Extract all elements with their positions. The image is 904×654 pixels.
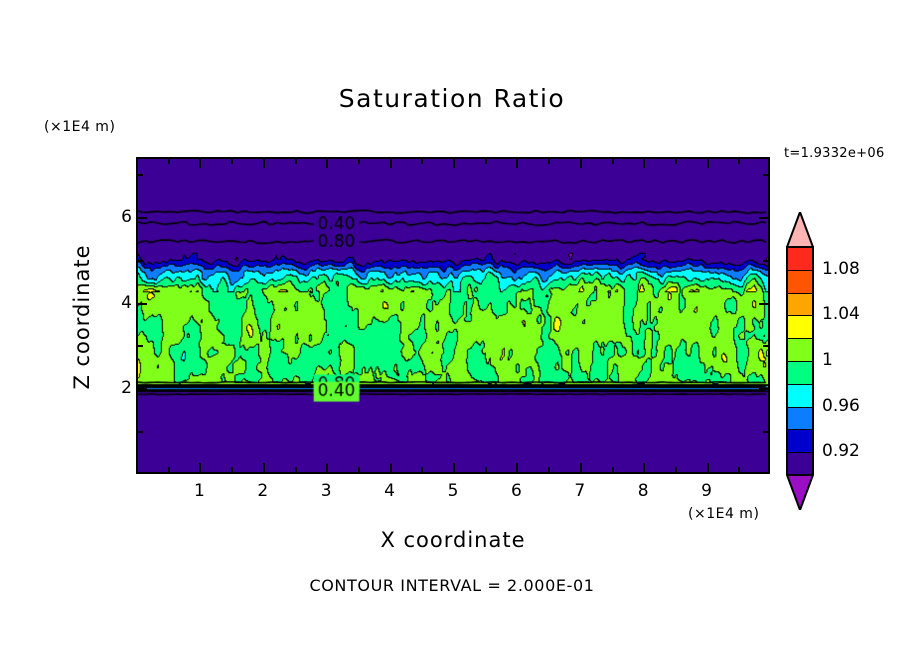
x-tick-label: 2 [257, 481, 268, 501]
colorbar-tick-labels: 1.081.0410.960.92 [822, 212, 892, 508]
axis-tick [138, 388, 147, 390]
x-tick-label: 9 [701, 481, 712, 501]
page-title: Saturation Ratio [0, 84, 904, 113]
y-tick-label: 6 [110, 207, 132, 227]
colorbar-band [788, 453, 812, 476]
contour-field [138, 159, 768, 472]
colorbar-bottom-arrow-icon [786, 474, 814, 510]
axis-tick [295, 159, 297, 164]
colorbar-bands [786, 246, 814, 474]
colorbar [786, 212, 814, 508]
axis-tick [548, 467, 550, 472]
colorbar-tick-label: 1.08 [822, 259, 860, 279]
colorbar-band [788, 408, 812, 431]
axis-tick [763, 431, 768, 433]
axis-tick [516, 463, 518, 472]
axis-tick [612, 159, 614, 164]
axis-tick [168, 159, 170, 164]
axis-tick [390, 159, 392, 168]
x-tick-label: 7 [574, 481, 585, 501]
colorbar-band [788, 385, 812, 408]
axis-tick [421, 159, 423, 164]
colorbar-band [788, 248, 812, 271]
timestamp-label: t=1.9332e+06 [784, 146, 885, 161]
axis-tick [763, 345, 768, 347]
colorbar-tick-label: 1.04 [822, 304, 860, 324]
y-tick-label: 2 [110, 378, 132, 398]
x-axis-title: X coordinate [136, 528, 770, 552]
axis-tick [763, 260, 768, 262]
x-tick-label: 4 [384, 481, 395, 501]
axis-tick [199, 159, 201, 168]
axis-tick [643, 463, 645, 472]
x-tick-label: 1 [194, 481, 205, 501]
colorbar-band [788, 294, 812, 317]
caption: CONTOUR INTERVAL = 2.000E-01 [0, 576, 904, 595]
axis-tick [453, 463, 455, 472]
x-tick-label: 8 [638, 481, 649, 501]
figure-root: Saturation Ratio (×1E4 m) t=1.9332e+06 1… [0, 0, 904, 654]
axis-tick [138, 345, 143, 347]
axis-tick [759, 388, 768, 390]
axis-tick [263, 463, 265, 472]
x-tick-label: 5 [448, 481, 459, 501]
axis-tick [675, 467, 677, 472]
axis-tick [612, 467, 614, 472]
axis-tick [358, 467, 360, 472]
axis-tick [707, 463, 709, 472]
axis-tick [358, 159, 360, 164]
colorbar-band [788, 430, 812, 453]
axis-tick [548, 159, 550, 164]
colorbar-band [788, 271, 812, 294]
axis-tick [138, 174, 143, 176]
axis-tick [295, 467, 297, 472]
colorbar-top-arrow-icon [786, 212, 814, 248]
axis-tick [168, 467, 170, 472]
axis-tick [231, 467, 233, 472]
axis-tick [707, 159, 709, 168]
axis-tick [199, 463, 201, 472]
axis-tick [326, 463, 328, 472]
x-axis-unit-label: (×1E4 m) [688, 506, 759, 522]
axis-tick [759, 217, 768, 219]
colorbar-band [788, 362, 812, 385]
axis-tick [326, 159, 328, 168]
axis-tick [738, 159, 740, 164]
axis-tick [580, 159, 582, 168]
axis-tick [763, 174, 768, 176]
axis-tick [138, 303, 147, 305]
colorbar-band [788, 316, 812, 339]
contour-plot-area [136, 157, 770, 474]
axis-tick [138, 260, 143, 262]
colorbar-tick-label: 1 [822, 350, 833, 370]
y-axis-title: Z coordinate [70, 217, 94, 417]
axis-tick [390, 463, 392, 472]
x-tick-label: 3 [321, 481, 332, 501]
axis-tick [675, 159, 677, 164]
axis-tick [231, 159, 233, 164]
axis-tick [485, 159, 487, 164]
axis-tick [759, 303, 768, 305]
colorbar-band [788, 339, 812, 362]
x-tick-label: 6 [511, 481, 522, 501]
axis-tick [138, 217, 147, 219]
y-tick-label: 4 [110, 293, 132, 313]
y-axis-unit-label: (×1E4 m) [44, 119, 115, 135]
axis-tick [580, 463, 582, 472]
colorbar-tick-label: 0.92 [822, 441, 860, 461]
axis-tick [738, 467, 740, 472]
axis-tick [485, 467, 487, 472]
axis-tick [453, 159, 455, 168]
axis-tick [138, 431, 143, 433]
axis-tick [643, 159, 645, 168]
axis-tick [516, 159, 518, 168]
axis-tick [421, 467, 423, 472]
axis-tick [263, 159, 265, 168]
colorbar-tick-label: 0.96 [822, 396, 860, 416]
